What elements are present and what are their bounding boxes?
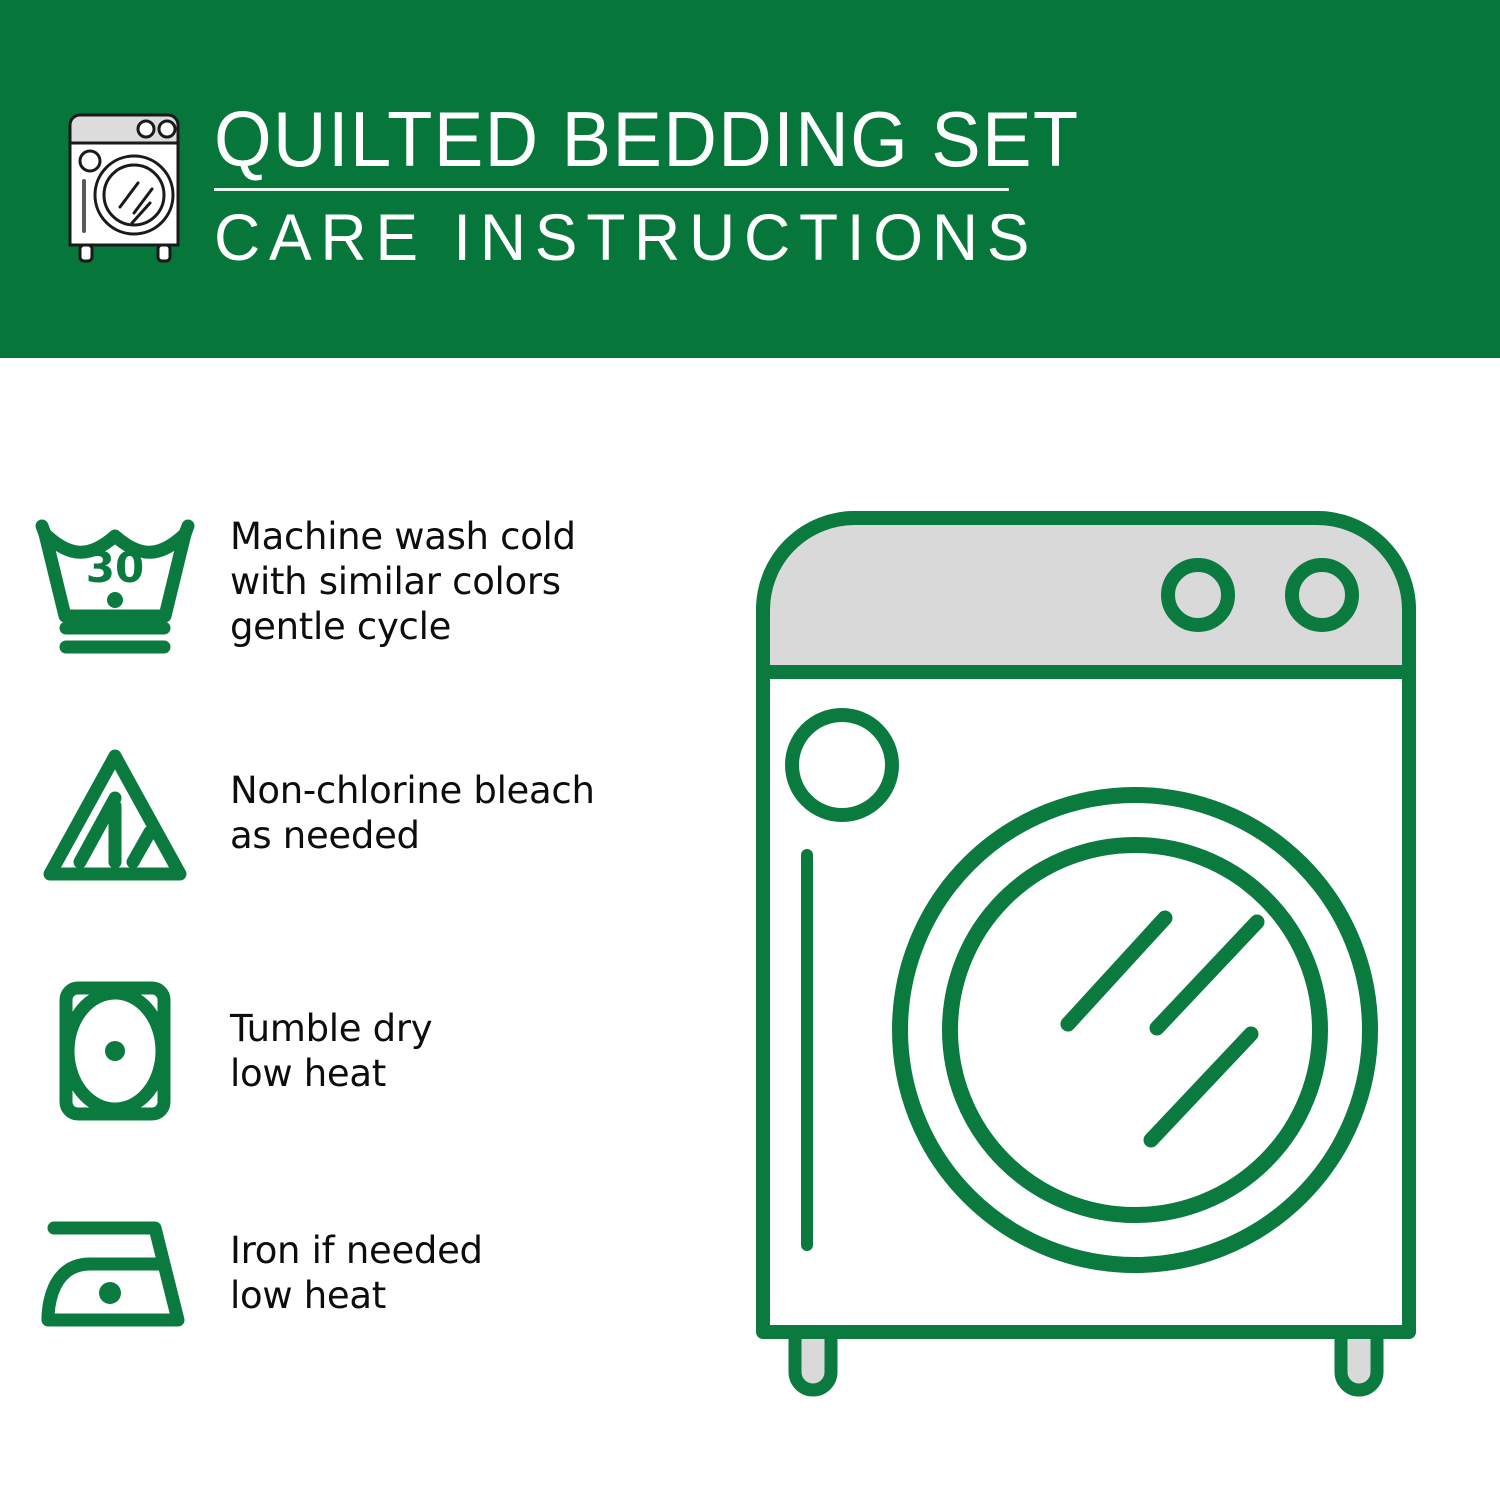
header-divider xyxy=(214,188,1009,191)
care-row-bleach: Non-chlorine bleach as needed xyxy=(0,738,720,888)
wash-tub-30-icon: 30 xyxy=(0,506,230,656)
header-text-block: QUILTED BEDDING SET CARE INSTRUCTIONS xyxy=(214,96,1014,273)
control-knob xyxy=(1292,565,1352,625)
control-knob xyxy=(1168,565,1228,625)
washing-machine-icon xyxy=(62,103,194,263)
drum-inner-ring xyxy=(950,845,1320,1215)
care-instruction-list: 30 Machine wash cold with similar colors… xyxy=(0,358,740,1500)
washing-machine-illustration xyxy=(745,500,1445,1420)
care-text-machine-wash: Machine wash cold with similar colors ge… xyxy=(230,514,576,649)
detergent-port xyxy=(792,715,892,815)
care-text-iron: Iron if needed low heat xyxy=(230,1228,483,1318)
care-row-machine-wash: 30 Machine wash cold with similar colors… xyxy=(0,506,720,656)
tumble-dry-icon xyxy=(0,976,230,1126)
page-title: QUILTED BEDDING SET xyxy=(214,96,974,182)
header-banner: QUILTED BEDDING SET CARE INSTRUCTIONS xyxy=(0,0,1500,358)
wash-temperature-label: 30 xyxy=(86,543,144,592)
care-row-iron: Iron if needed low heat xyxy=(0,1208,720,1338)
care-text-bleach: Non-chlorine bleach as needed xyxy=(230,768,595,858)
iron-icon xyxy=(0,1208,230,1338)
page-subtitle: CARE INSTRUCTIONS xyxy=(214,201,990,273)
care-row-tumble-dry: Tumble dry low heat xyxy=(0,976,720,1126)
care-text-tumble-dry: Tumble dry low heat xyxy=(230,1006,432,1096)
triangle-bleach-icon xyxy=(0,738,230,888)
